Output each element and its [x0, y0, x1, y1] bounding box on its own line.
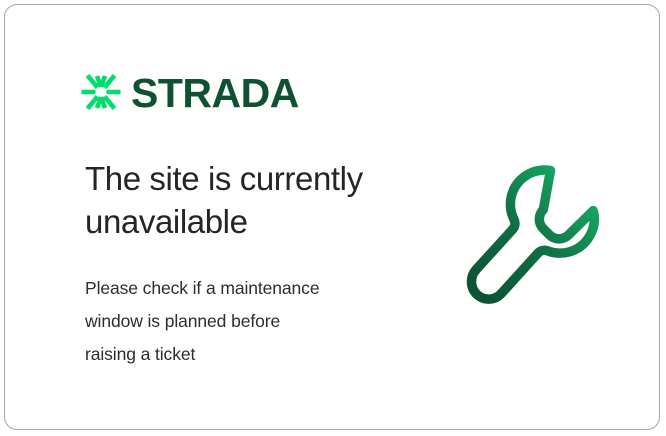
page-title: The site is currently unavailable: [85, 157, 435, 243]
status-description-line: Please check if a maintenance: [85, 272, 405, 305]
strada-asterisk-icon: [80, 71, 122, 113]
status-card: STRADA The site is currently unavailable…: [4, 4, 660, 430]
status-description: Please check if a maintenance window is …: [85, 272, 405, 371]
wrench-icon: [457, 153, 617, 313]
status-description-line: window is planned before: [85, 305, 405, 338]
page-root: STRADA The site is currently unavailable…: [0, 0, 666, 436]
status-description-line: raising a ticket: [85, 338, 405, 371]
brand-wordmark: STRADA: [131, 73, 299, 114]
brand-logo: STRADA: [80, 71, 299, 113]
